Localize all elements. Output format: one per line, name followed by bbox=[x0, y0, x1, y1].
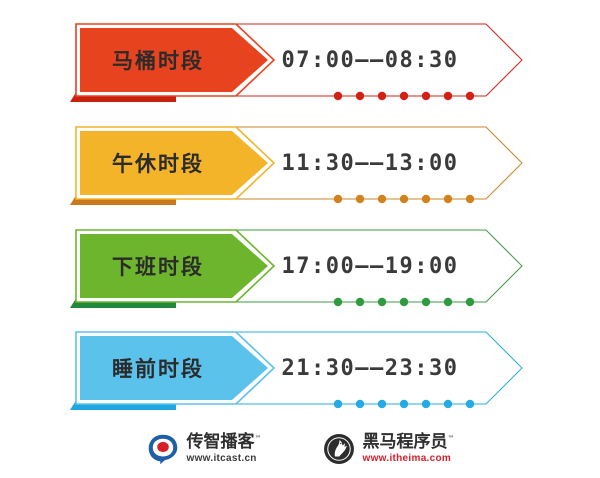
progress-dot bbox=[378, 298, 386, 306]
progress-dot bbox=[444, 92, 452, 100]
progress-dot bbox=[400, 195, 408, 203]
heima-name: 黑马程序员™ bbox=[363, 434, 455, 451]
progress-dot bbox=[356, 195, 364, 203]
progress-dot bbox=[334, 400, 342, 408]
progress-dot bbox=[444, 195, 452, 203]
progress-dot bbox=[356, 400, 364, 408]
footer-logos: 传智播客™ www.itcast.cn 黑马程序员™ www.itheima.c… bbox=[0, 420, 600, 478]
band-color-block bbox=[80, 28, 268, 92]
heima-tm: ™ bbox=[448, 434, 455, 442]
progress-dot bbox=[334, 92, 342, 100]
progress-dot bbox=[356, 92, 364, 100]
progress-dot bbox=[466, 92, 474, 100]
logo-heima[interactable]: 黑马程序员™ www.itheima.com bbox=[322, 432, 455, 466]
itcast-logo-icon bbox=[146, 432, 180, 466]
itcast-url: www.itcast.cn bbox=[187, 454, 262, 464]
progress-dot bbox=[356, 298, 364, 306]
progress-dot bbox=[422, 400, 430, 408]
band-color-block bbox=[80, 131, 268, 195]
progress-dot bbox=[466, 400, 474, 408]
progress-dot bbox=[400, 92, 408, 100]
progress-dot bbox=[378, 92, 386, 100]
heima-logo-icon bbox=[322, 432, 356, 466]
itcast-text-block: 传智播客™ www.itcast.cn bbox=[187, 434, 262, 464]
progress-dot bbox=[444, 298, 452, 306]
progress-dot bbox=[400, 298, 408, 306]
band-shape bbox=[0, 10, 600, 110]
band-shape bbox=[0, 216, 600, 316]
band-row[interactable]: 午休时段11:30——13:00 bbox=[0, 113, 600, 213]
progress-dot bbox=[378, 400, 386, 408]
band-row[interactable]: 下班时段17:00——19:00 bbox=[0, 216, 600, 316]
progress-dot bbox=[466, 298, 474, 306]
progress-dot bbox=[422, 298, 430, 306]
progress-dot bbox=[334, 195, 342, 203]
band-color-block bbox=[80, 336, 268, 400]
diagram-canvas: 马桶时段07:00——08:30午休时段11:30——13:00下班时段17:0… bbox=[0, 0, 600, 478]
band-row[interactable]: 马桶时段07:00——08:30 bbox=[0, 10, 600, 110]
band-shape bbox=[0, 318, 600, 418]
progress-dot bbox=[422, 92, 430, 100]
heima-text-block: 黑马程序员™ www.itheima.com bbox=[363, 434, 455, 464]
itcast-name: 传智播客™ bbox=[187, 434, 262, 451]
itcast-tm: ™ bbox=[255, 434, 262, 442]
band-row[interactable]: 睡前时段21:30——23:30 bbox=[0, 318, 600, 418]
logo-itcast[interactable]: 传智播客™ www.itcast.cn bbox=[146, 432, 262, 466]
progress-dot bbox=[400, 400, 408, 408]
progress-dot bbox=[378, 195, 386, 203]
progress-dot bbox=[422, 195, 430, 203]
progress-dot bbox=[466, 195, 474, 203]
band-color-block bbox=[80, 234, 268, 298]
heima-url: www.itheima.com bbox=[363, 454, 455, 464]
band-shape bbox=[0, 113, 600, 213]
progress-dot bbox=[334, 298, 342, 306]
progress-dot bbox=[444, 400, 452, 408]
